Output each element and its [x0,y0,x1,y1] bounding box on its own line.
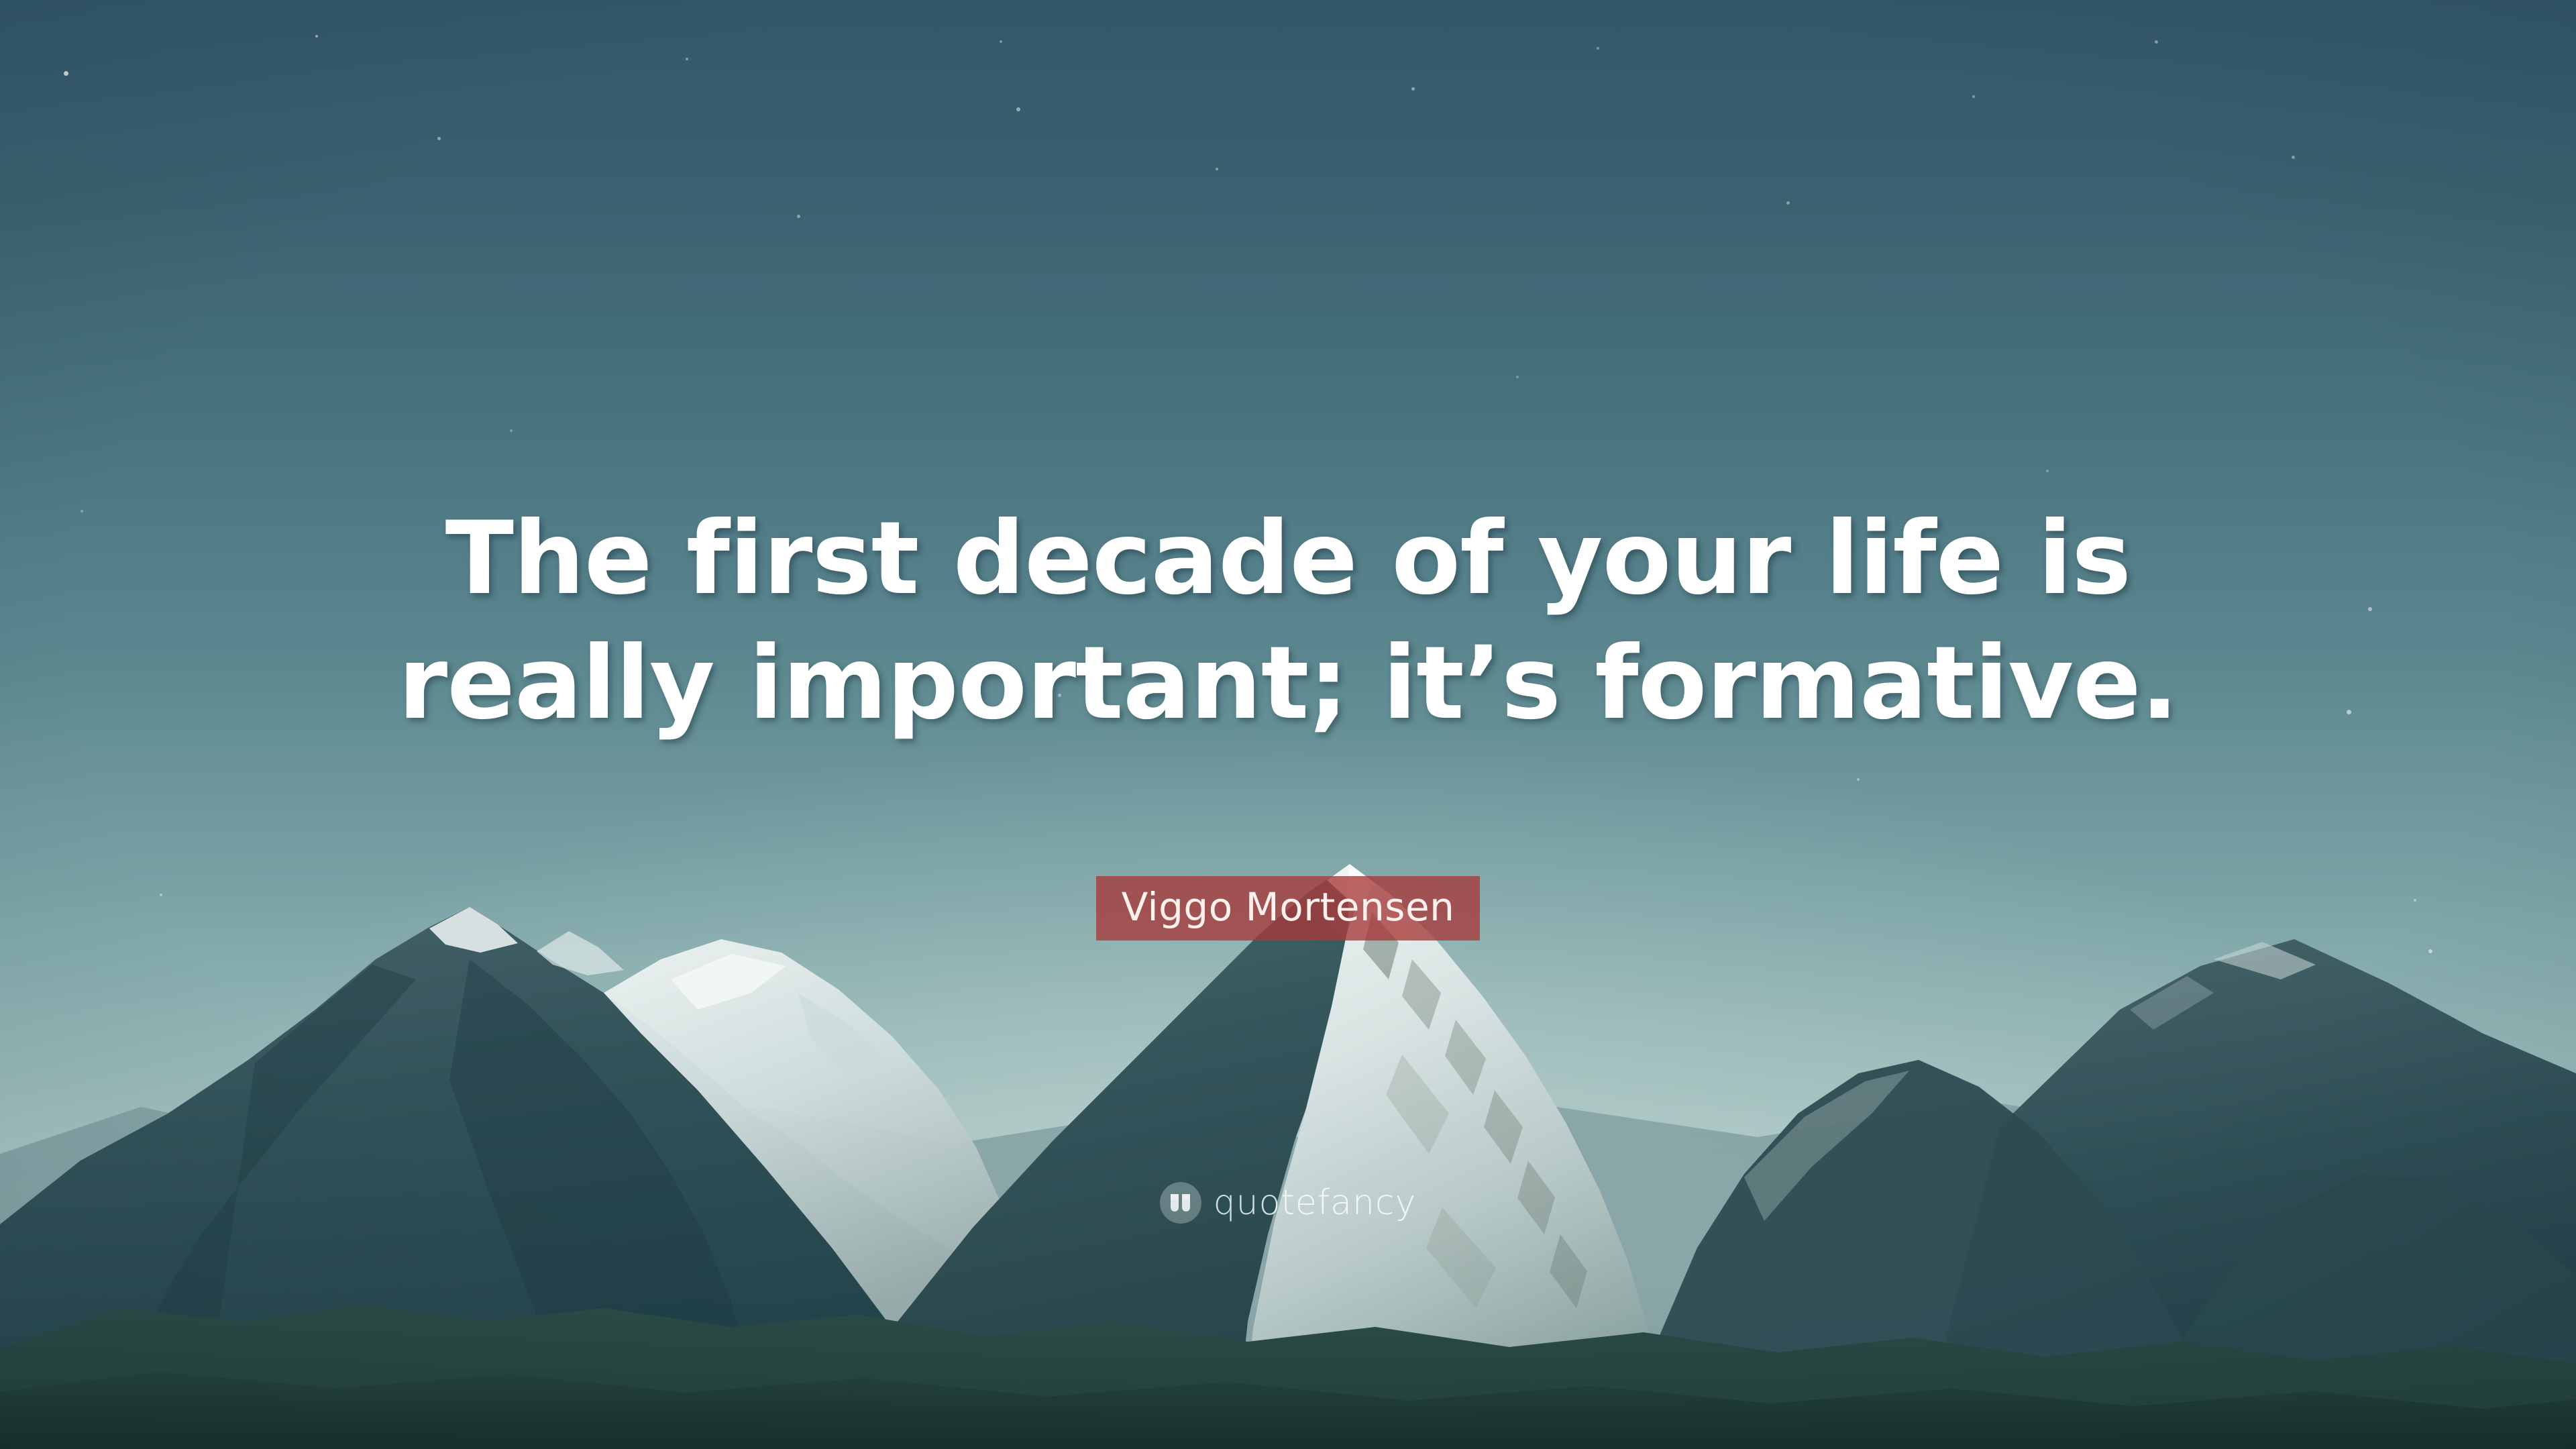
author-name-badge: Viggo Mortensen [1096,876,1481,941]
watermark-brand-label: quotefancy [1214,1185,1417,1220]
quotefancy-watermark[interactable]: quotefancy [0,1182,2576,1224]
quote-marks-icon [1160,1182,1201,1224]
quote-text: The first decade of your life is really … [282,496,2294,746]
quote-mark-right [1182,1194,1190,1212]
author-attribution: Viggo Mortensen [0,876,2576,941]
quote-poster: The first decade of your life is really … [0,0,2576,1449]
quote-mark-left [1171,1194,1179,1212]
poster-content: The first decade of your life is really … [0,0,2576,1449]
